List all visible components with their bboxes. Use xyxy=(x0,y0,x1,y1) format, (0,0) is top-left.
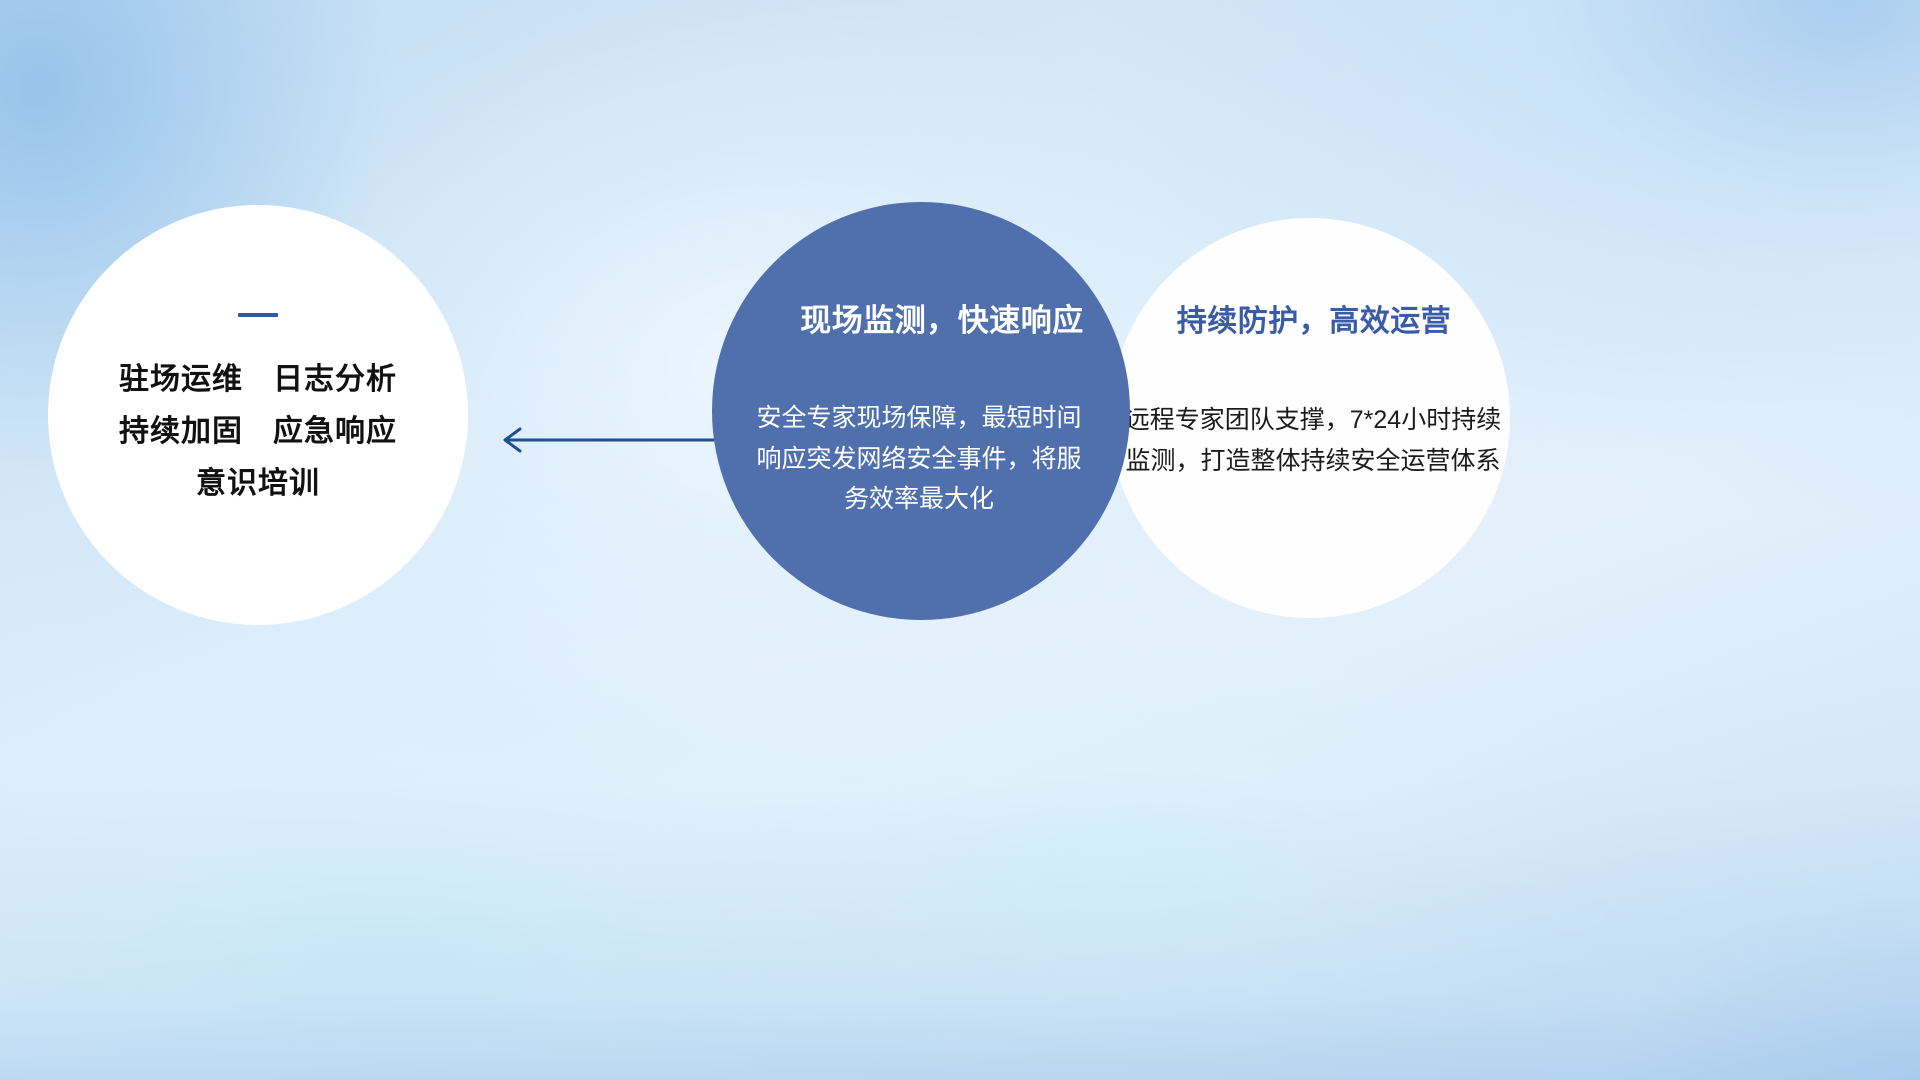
capability-tag-row: 持续加固 应急响应 xyxy=(119,417,397,447)
capability-circle-left: 驻场运维 日志分析 持续加固 应急响应 意识培训 xyxy=(48,205,468,625)
capability-tag: 应急响应 xyxy=(273,417,397,447)
capability-tag-row: 意识培训 xyxy=(196,469,320,499)
middle-circle-content: 现场监测，快速响应 安全专家现场保障，最短时间响应突发网络安全事件，将服务效率最… xyxy=(712,202,1130,620)
capability-tag: 驻场运维 xyxy=(119,365,243,395)
right-circle-content: 持续防护，高效运营 远程专家团队支撑，7*24小时持续监测，打造整体持续安全运营… xyxy=(1110,218,1510,618)
capability-tag: 日志分析 xyxy=(273,365,397,395)
right-circle-body: 远程专家团队支撑，7*24小时持续监测，打造整体持续安全运营体系 xyxy=(1120,400,1506,482)
capability-tag: 意识培训 xyxy=(196,469,320,499)
capability-tag-list: 驻场运维 日志分析 持续加固 应急响应 意识培训 xyxy=(119,365,397,499)
capability-tag: 持续加固 xyxy=(119,417,243,447)
capability-circle-right: 持续防护，高效运营 远程专家团队支撑，7*24小时持续监测，打造整体持续安全运营… xyxy=(1110,218,1510,618)
title-divider-dash xyxy=(238,313,278,317)
left-circle-content: 驻场运维 日志分析 持续加固 应急响应 意识培训 xyxy=(48,205,468,625)
capability-circle-middle: 现场监测，快速响应 安全专家现场保障，最短时间响应突发网络安全事件，将服务效率最… xyxy=(712,202,1130,620)
middle-circle-title: 现场监测，快速响应 xyxy=(712,295,1130,340)
arrow-left-icon xyxy=(490,420,715,460)
capability-tag-row: 驻场运维 日志分析 xyxy=(119,365,397,395)
right-circle-title: 持续防护，高效运营 xyxy=(1124,296,1504,340)
middle-circle-body: 安全专家现场保障，最短时间响应突发网络安全事件，将服务效率最大化 xyxy=(754,398,1084,520)
slide-canvas: 驻场运维 日志分析 持续加固 应急响应 意识培训 持续防护，高效运营 远程专家团… xyxy=(0,0,1920,1080)
